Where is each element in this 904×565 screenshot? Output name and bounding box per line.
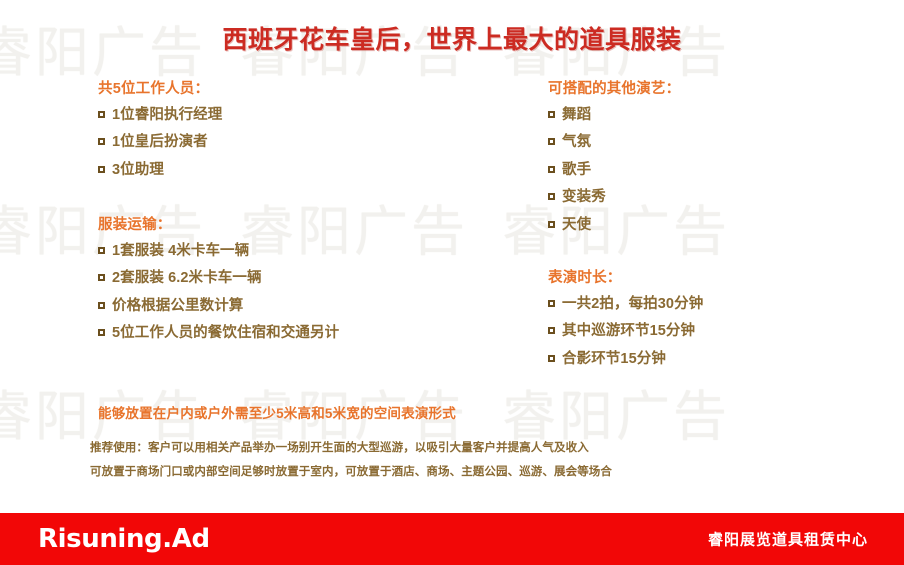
list-item: 气氛 <box>548 135 878 150</box>
list-item: 变装秀 <box>548 190 878 205</box>
footer-company-name: 睿阳展览道具租赁中心 <box>708 529 868 550</box>
list-item: 舞蹈 <box>548 108 878 123</box>
list-item: 价格根据公里数计算 <box>98 299 498 314</box>
square-bullet-icon <box>98 111 105 118</box>
block-heading: 表演时长： <box>548 271 878 286</box>
list-item-label: 其中巡游环节15分钟 <box>562 323 695 339</box>
list-item-label: 合影环节15分钟 <box>562 351 666 367</box>
slide-content: 西班牙花车皇后，世界上最大的道具服装 共5位工作人员： 1位睿阳执行经理 1位皇… <box>0 0 904 513</box>
block-duration: 表演时长： 一共2拍，每拍30分钟 其中巡游环节15分钟 合影环节15分钟 <box>548 271 878 366</box>
square-bullet-icon <box>98 302 105 309</box>
square-bullet-icon <box>548 111 555 118</box>
list-item-label: 1套服装 4米卡车一辆 <box>112 243 249 259</box>
list-item-label: 变装秀 <box>562 189 606 205</box>
list-item: 1位睿阳执行经理 <box>98 108 498 123</box>
square-bullet-icon <box>548 193 555 200</box>
block-staff: 共5位工作人员： 1位睿阳执行经理 1位皇后扮演者 3位助理 <box>98 82 498 177</box>
square-bullet-icon <box>548 221 555 228</box>
list-item: 3位助理 <box>98 163 498 178</box>
block-heading: 可搭配的其他演艺： <box>548 82 878 97</box>
list-item: 一共2拍，每拍30分钟 <box>548 297 878 312</box>
block-transport: 服装运输： 1套服装 4米卡车一辆 2套服装 6.2米卡车一辆 价格根据公里数计… <box>98 218 498 341</box>
block-heading: 服装运输： <box>98 218 498 233</box>
usage-note-line: 可放置于商场门口或内部空间足够时放置于室内，可放置于酒店、商场、主题公园、巡游、… <box>90 467 850 479</box>
page-title: 西班牙花车皇后，世界上最大的道具服装 <box>0 20 904 56</box>
section-spacer <box>98 190 498 218</box>
right-column: 可搭配的其他演艺： 舞蹈 气氛 歌手 变装秀 天使 表演时长： 一共2拍，每拍3… <box>548 82 878 379</box>
list-item-label: 2套服装 6.2米卡车一辆 <box>112 270 262 286</box>
list-item: 5位工作人员的餐饮住宿和交通另计 <box>98 326 498 341</box>
transport-list: 1套服装 4米卡车一辆 2套服装 6.2米卡车一辆 价格根据公里数计算 5位工作… <box>98 244 498 341</box>
list-item: 天使 <box>548 218 878 233</box>
square-bullet-icon <box>548 327 555 334</box>
list-item-label: 3位助理 <box>112 162 164 178</box>
square-bullet-icon <box>98 247 105 254</box>
square-bullet-icon <box>548 300 555 307</box>
block-other-acts: 可搭配的其他演艺： 舞蹈 气氛 歌手 变装秀 天使 <box>548 82 878 232</box>
list-item-label: 舞蹈 <box>562 107 591 123</box>
other-acts-list: 舞蹈 气氛 歌手 变装秀 天使 <box>548 108 878 233</box>
square-bullet-icon <box>548 138 555 145</box>
square-bullet-icon <box>98 274 105 281</box>
square-bullet-icon <box>98 138 105 145</box>
list-item-label: 1位睿阳执行经理 <box>112 107 222 123</box>
footer-bar: Risuning.Ad 睿阳展览道具租赁中心 <box>0 513 904 565</box>
usage-note-line: 推荐使用：客户可以用相关产品举办一场别开生面的大型巡游，以吸引大量客户并提高人气… <box>90 443 850 455</box>
duration-list: 一共2拍，每拍30分钟 其中巡游环节15分钟 合影环节15分钟 <box>548 297 878 367</box>
list-item-label: 价格根据公里数计算 <box>112 298 243 314</box>
list-item: 1位皇后扮演者 <box>98 135 498 150</box>
brand-logo: Risuning.Ad <box>38 524 210 554</box>
list-item-label: 一共2拍，每拍30分钟 <box>562 296 703 312</box>
list-item-label: 5位工作人员的餐饮住宿和交通另计 <box>112 325 339 341</box>
section-spacer <box>548 245 878 271</box>
list-item: 合影环节15分钟 <box>548 352 878 367</box>
block-heading: 共5位工作人员： <box>98 82 498 97</box>
list-item-label: 1位皇后扮演者 <box>112 134 208 150</box>
list-item: 1套服装 4米卡车一辆 <box>98 244 498 259</box>
list-item: 歌手 <box>548 163 878 178</box>
space-requirement-note: 能够放置在户内或户外需至少5米高和5米宽的空间表演形式 <box>98 402 456 422</box>
usage-notes: 推荐使用：客户可以用相关产品举办一场别开生面的大型巡游，以吸引大量客户并提高人气… <box>90 443 850 490</box>
list-item: 2套服装 6.2米卡车一辆 <box>98 271 498 286</box>
list-item-label: 天使 <box>562 217 591 233</box>
square-bullet-icon <box>548 355 555 362</box>
list-item-label: 气氛 <box>562 134 591 150</box>
slide-root: 睿阳广告 睿阳广告 睿阳广告 睿阳广告 睿阳广告 睿阳广告 睿阳广告 睿阳广告 … <box>0 0 904 565</box>
left-column: 共5位工作人员： 1位睿阳执行经理 1位皇后扮演者 3位助理 服装运输： 1套服… <box>98 82 498 354</box>
square-bullet-icon <box>548 166 555 173</box>
square-bullet-icon <box>98 166 105 173</box>
square-bullet-icon <box>98 329 105 336</box>
list-item: 其中巡游环节15分钟 <box>548 324 878 339</box>
staff-list: 1位睿阳执行经理 1位皇后扮演者 3位助理 <box>98 108 498 178</box>
list-item-label: 歌手 <box>562 162 591 178</box>
